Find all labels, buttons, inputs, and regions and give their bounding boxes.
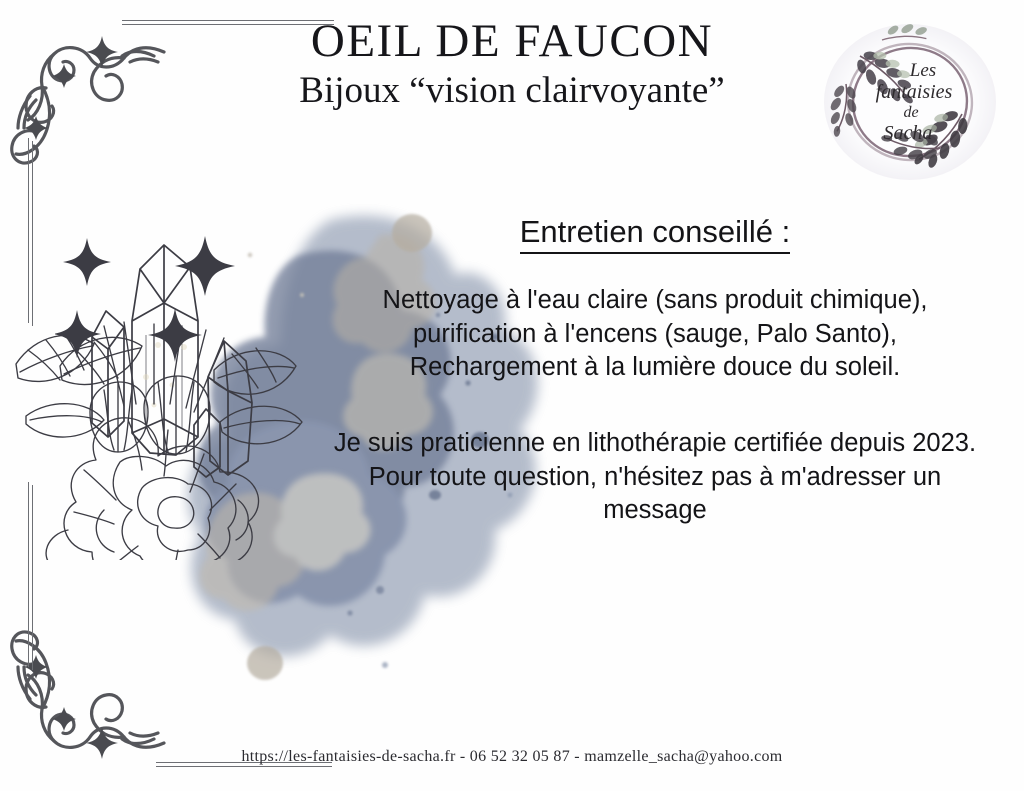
certification-paragraph: Je suis praticienne en lithothérapie cer…: [330, 427, 980, 461]
crystal-cluster-illustration: [80, 225, 310, 495]
logo-line-4: Sacha: [884, 122, 933, 144]
brand-logo-text: Les fantaisies de Sacha: [820, 22, 1000, 182]
brand-logo[interactable]: Les fantaisies de Sacha: [820, 22, 1000, 182]
corner-flourish-bottom-left-icon: [6, 626, 171, 791]
logo-line-3: de: [903, 104, 918, 122]
frame-rule-left-upper: [28, 138, 33, 323]
main-content: Entretien conseillé : Nettoyage à l'eau …: [330, 215, 980, 528]
contact-invite-paragraph: Pour toute question, n'hésitez pas à m'a…: [330, 461, 980, 528]
section-heading: Entretien conseillé :: [520, 215, 791, 254]
peony-lineart-illustration: [8, 320, 308, 560]
four-point-star-sparkles: [55, 230, 275, 370]
footer-contact-line[interactable]: https://les-fantaisies-de-sacha.fr - 06 …: [0, 748, 1024, 766]
logo-line-2: fantaisies: [876, 81, 953, 103]
frame-rule-left-lower: [28, 482, 33, 667]
care-instructions-paragraph: Nettoyage à l'eau claire (sans produit c…: [330, 284, 980, 385]
logo-line-1: Les: [910, 60, 936, 81]
paragraph-spacer: [330, 385, 980, 427]
flyer-card: OEIL DE FAUCON Bijoux “vision clairvoyan…: [0, 0, 1024, 791]
